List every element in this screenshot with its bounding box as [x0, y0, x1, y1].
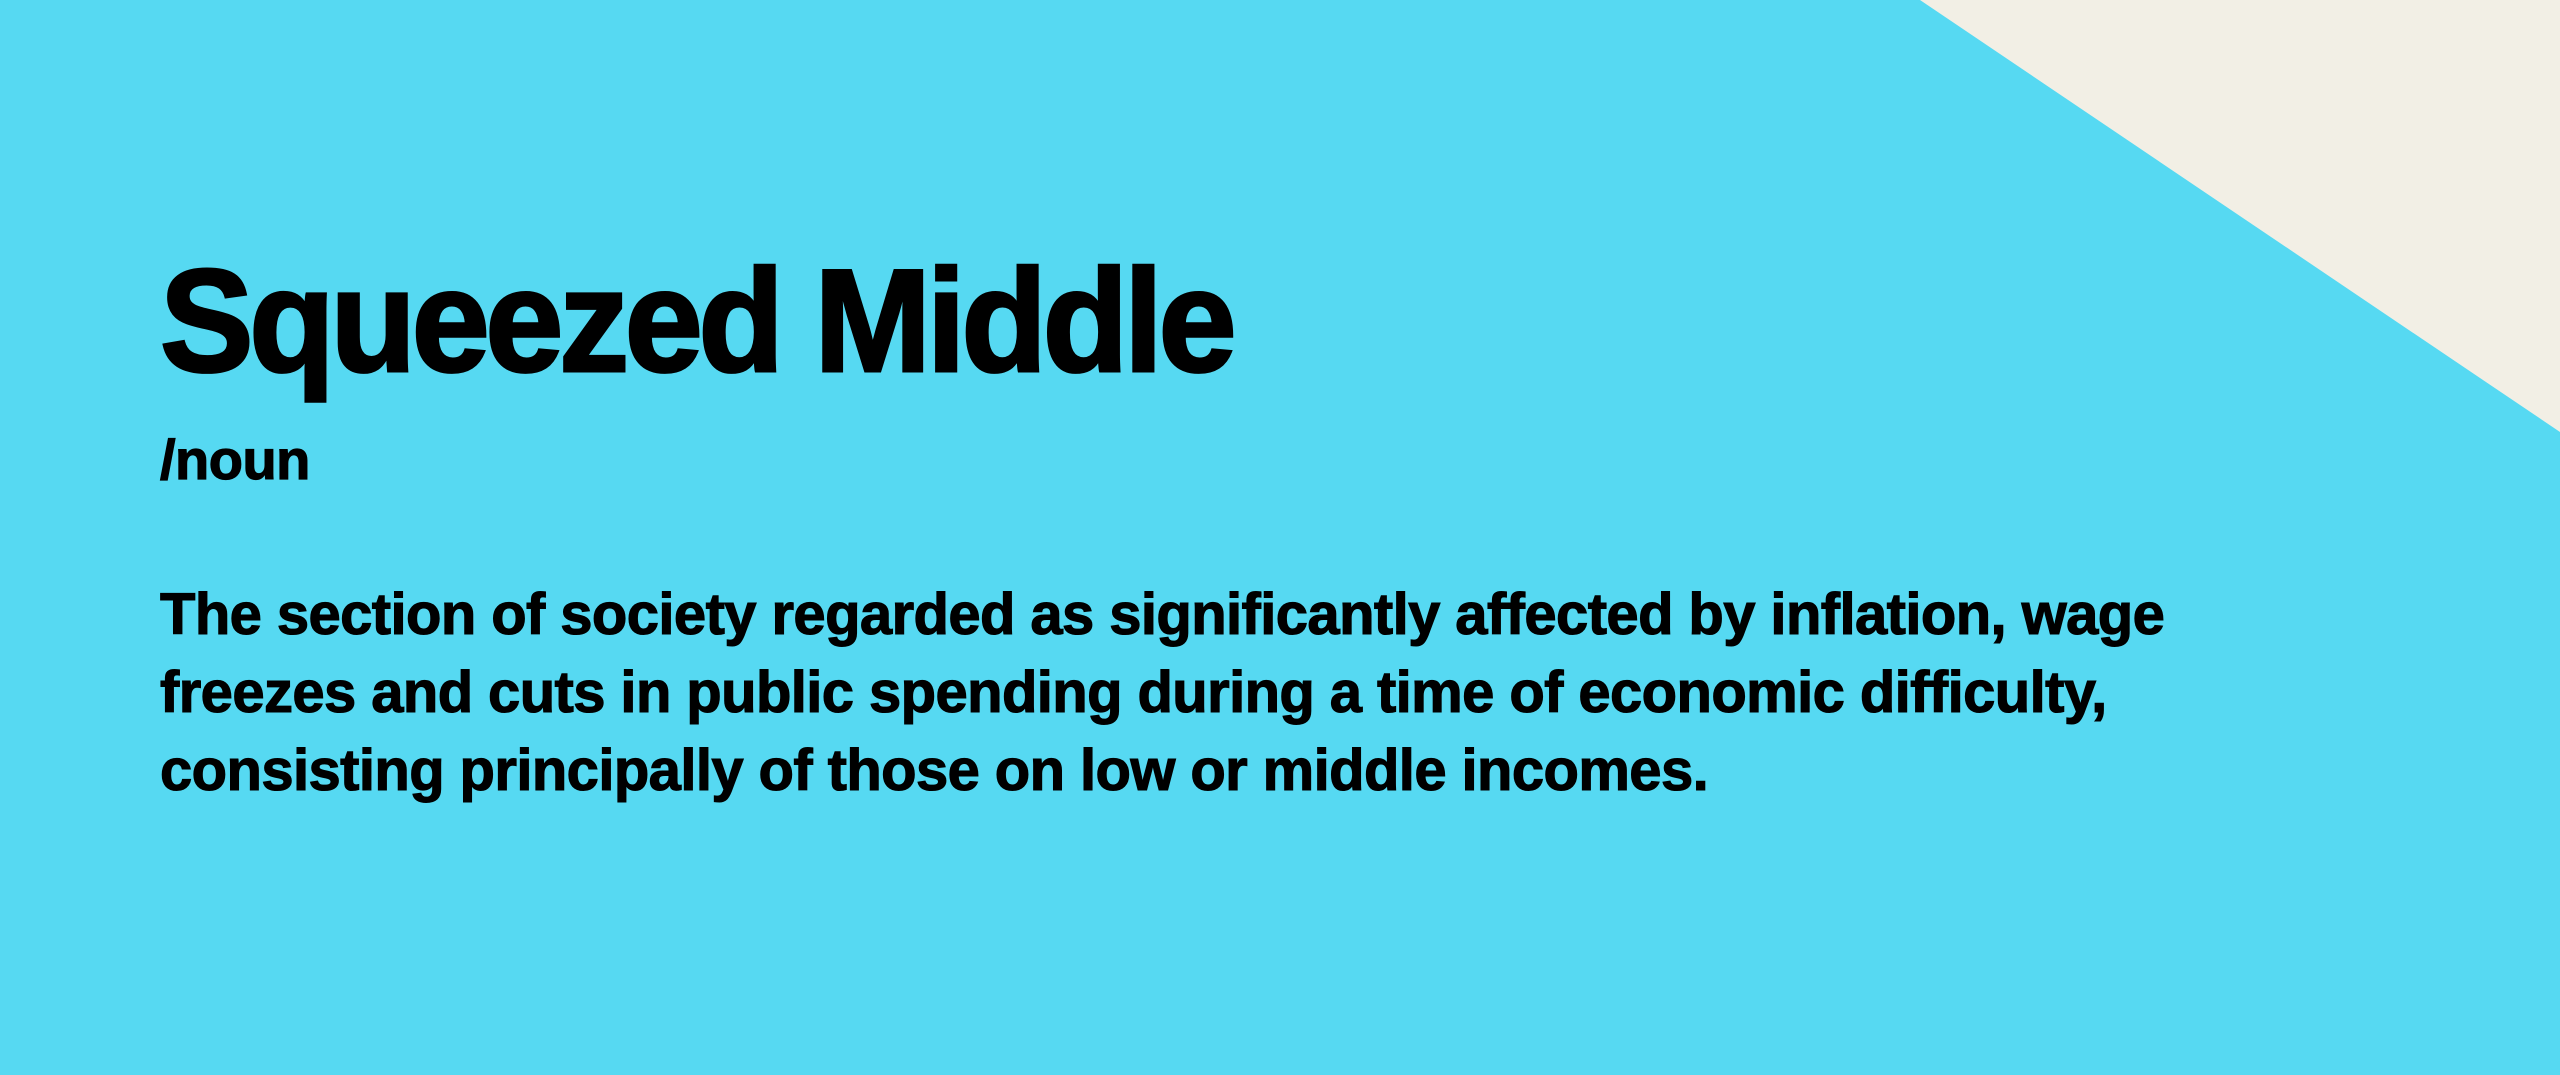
definition-text: The section of society regarded as signi… — [160, 576, 2220, 810]
definition-card: Squeezed Middle /noun The section of soc… — [0, 0, 2560, 1075]
term-title: Squeezed Middle — [160, 248, 1232, 394]
part-of-speech-label: /noun — [160, 428, 310, 492]
corner-wedge-decoration — [1920, 0, 2560, 432]
